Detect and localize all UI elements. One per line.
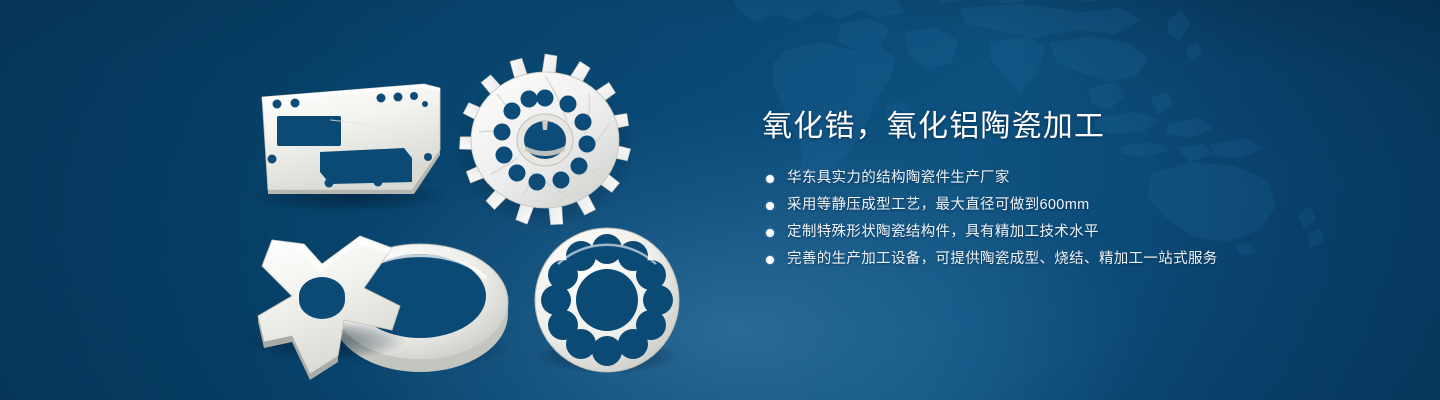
banner-copy: 氧化锆，氧化铝陶瓷加工 华东具实力的结构陶瓷件生产厂家 采用等静压成型工艺，最大…: [762, 108, 1402, 276]
list-item: 采用等静压成型工艺，最大直径可做到600mm: [766, 195, 1402, 216]
feature-text: 完善的生产加工设备，可提供陶瓷成型、烧结、精加工一站式服务: [787, 249, 1218, 270]
ceramic-machined-plate: [250, 84, 450, 212]
bullet-dot-icon: [766, 202, 774, 210]
banner-headline: 氧化锆，氧化铝陶瓷加工: [762, 108, 1402, 146]
product-collage: [0, 0, 730, 400]
bullet-dot-icon: [766, 229, 774, 237]
list-item: 完善的生产加工设备，可提供陶瓷成型、烧结、精加工一站式服务: [766, 249, 1402, 270]
list-item: 定制特殊形状陶瓷结构件，具有精加工技术水平: [766, 222, 1402, 243]
bullet-dot-icon: [766, 175, 774, 183]
feature-text: 采用等静压成型工艺，最大直径可做到600mm: [787, 195, 1090, 216]
hero-banner: 氧化锆，氧化铝陶瓷加工 华东具实力的结构陶瓷件生产厂家 采用等静压成型工艺，最大…: [0, 0, 1440, 400]
bullet-dot-icon: [766, 256, 774, 264]
feature-text: 华东具实力的结构陶瓷件生产厂家: [787, 168, 1010, 189]
ceramic-perforated-disc: [535, 228, 679, 374]
feature-list: 华东具实力的结构陶瓷件生产厂家 采用等静压成型工艺，最大直径可做到600mm 定…: [766, 168, 1402, 270]
ceramic-impeller-rotor: [453, 54, 637, 230]
list-item: 华东具实力的结构陶瓷件生产厂家: [766, 168, 1402, 189]
feature-text: 定制特殊形状陶瓷结构件，具有精加工技术水平: [787, 222, 1099, 243]
